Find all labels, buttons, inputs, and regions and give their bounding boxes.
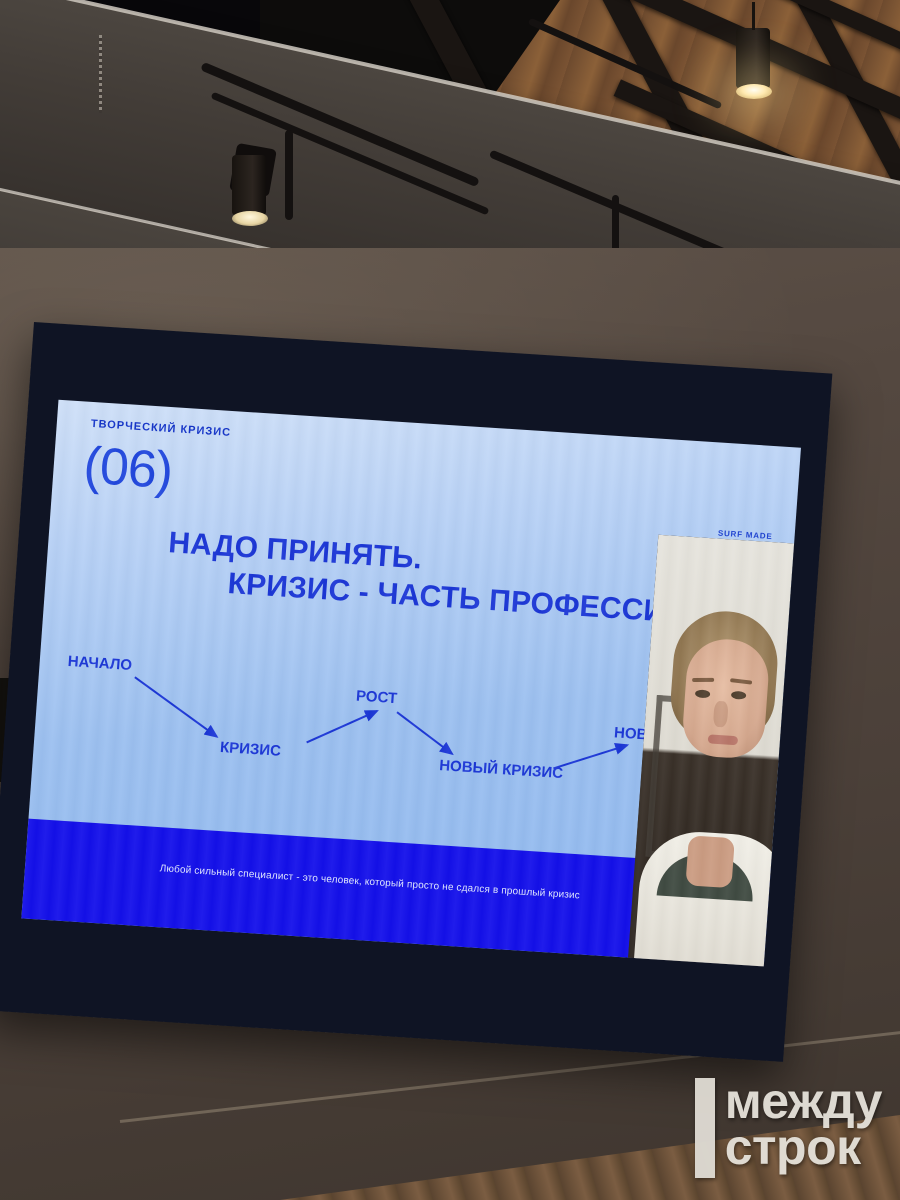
spotlight-lens [736,84,772,99]
pendant-light [232,155,268,226]
watermark-line-1: между [725,1078,882,1124]
watermark-line-2: строк [725,1124,882,1170]
ceiling-cable [285,130,293,220]
spotlight-body [736,28,770,88]
participant-eyebrow [692,678,714,682]
projection-screen: ТВОРЧЕСКИЙ КРИЗИС (06) SURF MADE НАДО ПР… [0,322,832,1062]
watermark-text: между строк [725,1078,882,1170]
spotlight-stem [752,2,755,30]
hanging-chain [99,35,102,113]
ceiling-spotlight [736,28,772,99]
watermark: между строк [695,1078,882,1178]
participant-mouth [708,734,739,745]
slide-number: (06) [82,440,174,498]
room-photo-scene: ТВОРЧЕСКИЙ КРИЗИС (06) SURF MADE НАДО ПР… [0,0,900,1200]
slide-kicker: ТВОРЧЕСКИЙ КРИЗИС [90,418,231,439]
pendant-lens [232,211,268,226]
slide-footer-caption: Любой сильный специалист - это человек, … [25,855,714,911]
presentation-slide: ТВОРЧЕСКИЙ КРИЗИС (06) SURF MADE НАДО ПР… [21,400,801,967]
diagram-node-growth: РОСТ [355,688,397,708]
watermark-bar-icon [695,1078,715,1178]
pendant-body [232,155,266,215]
participant-neck [685,835,734,888]
